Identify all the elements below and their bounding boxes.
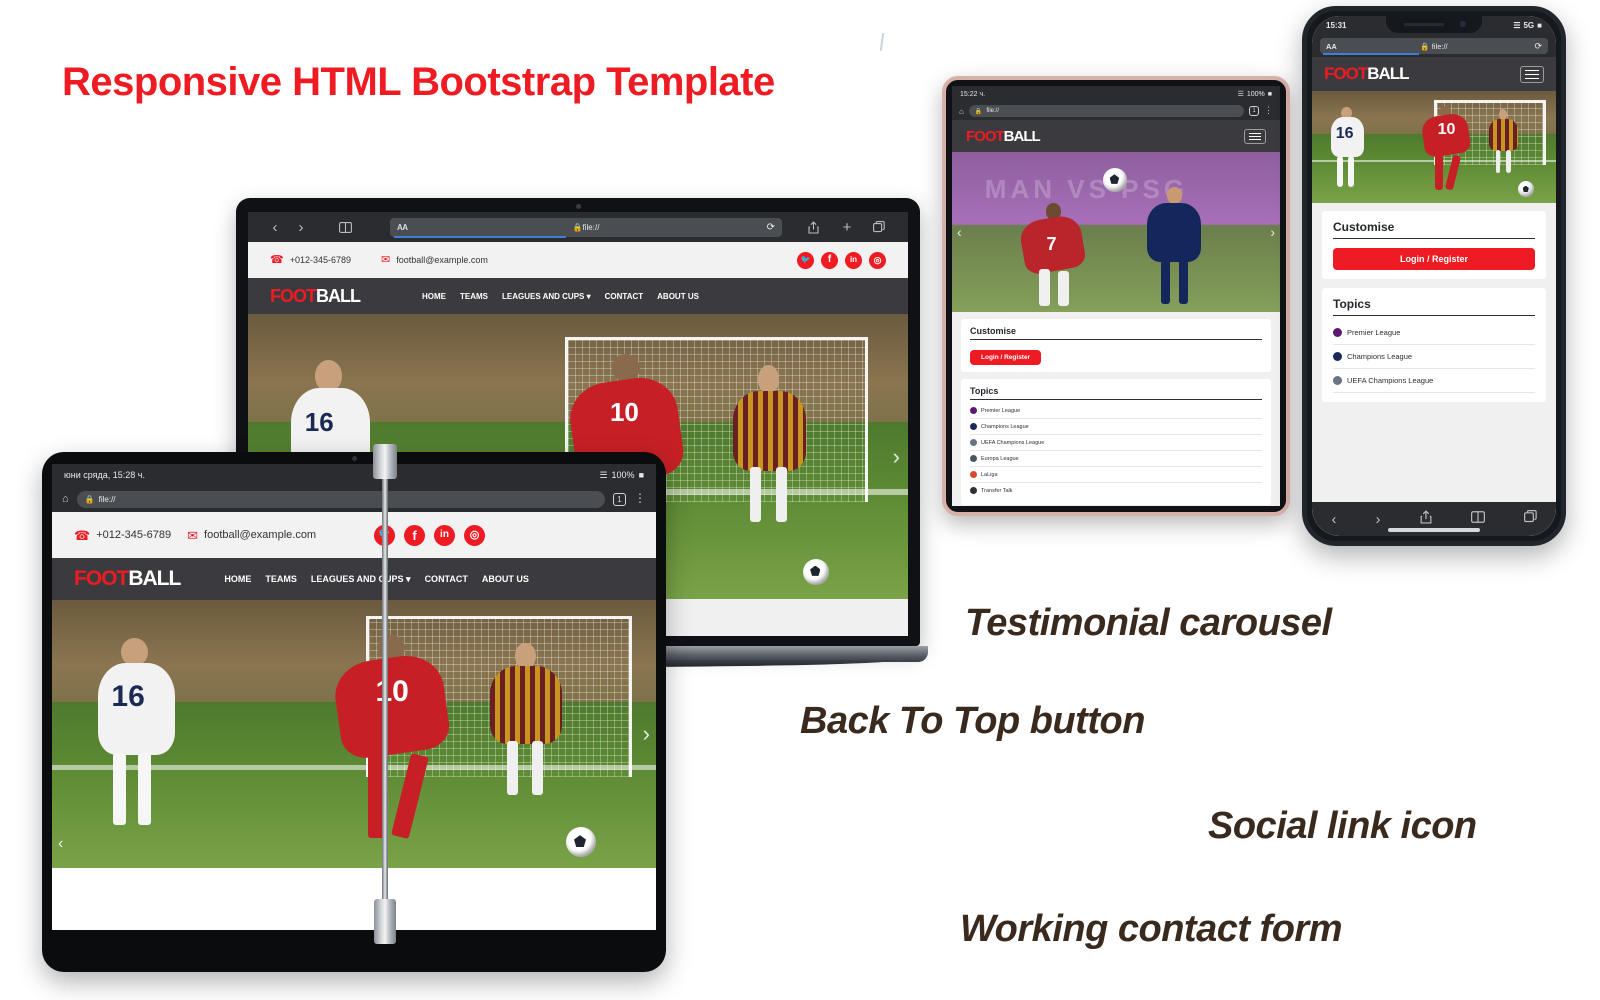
tablet-camera-icon	[352, 456, 357, 461]
hero-carousel[interactable]: 16 10	[1312, 91, 1556, 203]
player-10: 10	[1419, 106, 1473, 193]
chevron-down-icon: ▾	[406, 574, 411, 584]
topic-item-transfer-talk[interactable]: Transfer Talk	[970, 483, 1262, 498]
nav-item-leagues-and-cups[interactable]: LEAGUES AND CUPS ▾	[502, 292, 591, 301]
champions-league-badge-icon	[1333, 352, 1342, 361]
topic-item-champions-league[interactable]: Champions League	[970, 419, 1262, 435]
battery-icon: ■	[1268, 91, 1272, 98]
hero-image: 16 10	[1312, 91, 1556, 203]
hero-image: MAN VS PSG 7	[952, 152, 1280, 312]
carousel-prev-button[interactable]: ‹	[957, 224, 962, 240]
address-bar[interactable]: AA 🔒file:// ⟳	[390, 218, 782, 237]
topic-item-premier-league[interactable]: Premier League	[970, 403, 1262, 419]
tablet-small-screen: 15:22 ч. ☰ 100% ■ ⌂ 🔒 file:// 1 ⋮	[952, 86, 1280, 506]
twitter-icon[interactable]: 🐦	[797, 252, 814, 269]
football-icon	[1103, 168, 1127, 192]
phone-icon: ☎	[74, 529, 90, 542]
phone-screen: 15:31 ☰ 5G ■ AA 🔒 file:// ⟳	[1312, 16, 1556, 536]
lock-icon: 🔒	[1420, 42, 1429, 51]
contact-email[interactable]: ✉ football@example.com	[381, 255, 488, 266]
s-pen-stylus[interactable]	[373, 444, 397, 944]
site-navbar: FOOTBALL HOME TEAMS LEAGUES AND CUPS ▾ C…	[52, 558, 656, 600]
champions-league-badge-icon	[970, 423, 977, 430]
bookmarks-icon[interactable]	[1471, 510, 1485, 528]
site-logo[interactable]: FOOTBALL	[74, 567, 180, 591]
transfer-talk-badge-icon	[970, 487, 977, 494]
player-16: 16	[88, 638, 185, 831]
forward-icon[interactable]: ›	[288, 219, 314, 236]
nav-item-about-us[interactable]: ABOUT US	[482, 574, 529, 584]
annotation-working-contact-form: Working contact form	[960, 908, 1342, 951]
chevron-down-icon: ▾	[587, 292, 591, 301]
overflow-menu-icon[interactable]: ⋮	[1264, 108, 1273, 113]
player-messi	[1142, 187, 1208, 305]
topic-item-laliga[interactable]: LaLiga	[970, 467, 1262, 483]
topics-title: Topics	[970, 386, 1262, 400]
nav-item-about-us[interactable]: ABOUT US	[657, 292, 699, 301]
battery-icon: ■	[639, 470, 644, 480]
speaker-icon	[1404, 23, 1444, 26]
login-register-button[interactable]: Login / Register	[1333, 248, 1535, 270]
url-text: file://	[986, 108, 999, 114]
topics-title: Topics	[1333, 297, 1535, 316]
page-title: Responsive HTML Bootstrap Template	[62, 60, 775, 105]
linkedin-icon[interactable]: in	[845, 252, 862, 269]
nav-item-teams[interactable]: TEAMS	[460, 292, 488, 301]
annotation-testimonial-carousel: Testimonial carousel	[965, 602, 1332, 645]
device-tablet-large: юни сряда, 15:28 ч. ☰ 100% ■ ⌂ 🔒 file://…	[42, 452, 666, 972]
annotation-social-link-icon: Social link icon	[1208, 805, 1477, 848]
hamburger-menu-icon[interactable]	[1520, 66, 1544, 83]
tablet-large-screen: юни сряда, 15:28 ч. ☰ 100% ■ ⌂ 🔒 file://…	[52, 464, 656, 930]
customise-title: Customise	[970, 326, 1262, 340]
carousel-next-button[interactable]: ›	[1270, 224, 1275, 240]
customise-card: Customise Login / Register	[961, 319, 1271, 372]
contact-phone[interactable]: ☎ +012-345-6789	[270, 255, 351, 266]
email-address: football@example.com	[396, 255, 488, 265]
site-navbar: FOOTBALL HOME TEAMS LEAGUES AND CUPS ▾ C…	[248, 278, 908, 314]
back-icon[interactable]: ‹	[1332, 511, 1337, 528]
sidebar-panel: Customise Login / Register Topics Premie…	[1312, 203, 1556, 502]
lock-icon: 🔒	[573, 223, 583, 232]
topic-item-champions-league[interactable]: Champions League	[1333, 345, 1535, 369]
back-icon[interactable]: ‹	[262, 219, 288, 236]
envelope-icon: ✉	[381, 255, 390, 266]
nav-menu: HOME TEAMS LEAGUES AND CUPS ▾ CONTACT AB…	[422, 292, 699, 301]
site-topbar: ☎ +012-345-6789 ✉ football@example.com 🐦…	[52, 512, 656, 558]
overflow-menu-icon[interactable]: ⋮	[634, 495, 646, 502]
website-phone: FOOTBALL 16	[1312, 57, 1556, 536]
hero-carousel[interactable]: 16 10	[52, 600, 656, 868]
stray-mark	[880, 33, 884, 51]
topic-item-premier-league[interactable]: Premier League	[1333, 321, 1535, 345]
screenshot-canvas: Responsive HTML Bootstrap Template Testi…	[0, 0, 1600, 1000]
contact-email[interactable]: ✉ football@example.com	[187, 529, 316, 542]
topic-item-uefa-champions-league[interactable]: UEFA Champions League	[1333, 369, 1535, 393]
url-text: file://	[99, 495, 116, 504]
battery-percent: 100%	[612, 470, 635, 480]
phone-number: +012-345-6789	[290, 255, 351, 265]
url-text: 🔒 file://	[1320, 42, 1548, 51]
uefa-champions-league-badge-icon	[970, 439, 977, 446]
tab-count-button[interactable]: 1	[1249, 106, 1259, 116]
safari-address-bar-row: AA 🔒 file:// ⟳	[1312, 35, 1556, 57]
hero-carousel[interactable]: MAN VS PSG 7	[952, 152, 1280, 312]
phone-body: 15:31 ☰ 5G ■ AA 🔒 file:// ⟳	[1302, 6, 1566, 546]
tablet-small-body: 15:22 ч. ☰ 100% ■ ⌂ 🔒 file:// 1 ⋮	[942, 76, 1290, 516]
carousel-prev-button[interactable]: ‹	[58, 835, 63, 853]
home-indicator	[1388, 528, 1480, 532]
home-icon[interactable]: ⌂	[959, 107, 964, 116]
share-icon[interactable]	[1420, 510, 1432, 529]
front-camera-icon	[1460, 21, 1466, 27]
address-bar[interactable]: 🔒 file://	[969, 105, 1244, 117]
new-tab-icon[interactable]: +	[830, 219, 864, 236]
signal-icon: ☰	[599, 470, 607, 481]
website-tablet-small: FOOTBALL MAN VS PSG	[952, 120, 1280, 506]
android-status-bar: юни сряда, 15:28 ч. ☰ 100% ■	[52, 464, 656, 486]
europa-league-badge-icon	[970, 455, 977, 462]
chrome-omnibox-bar: ⌂ 🔒 file:// 1 ⋮	[952, 102, 1280, 120]
site-logo[interactable]: FOOTBALL	[1324, 64, 1409, 84]
nav-item-contact[interactable]: CONTACT	[425, 574, 468, 584]
player-16: 16	[1327, 107, 1368, 190]
status-time: 15:31	[1326, 21, 1346, 30]
premier-league-badge-icon	[1333, 328, 1342, 337]
customise-card: Customise Login / Register	[1322, 211, 1546, 279]
facebook-icon[interactable]: f	[404, 525, 425, 546]
network-label: 5G	[1523, 21, 1534, 30]
site-navbar: FOOTBALL	[952, 120, 1280, 152]
hero-image: 16 10	[52, 600, 656, 868]
hamburger-menu-icon[interactable]	[1244, 129, 1266, 144]
address-bar[interactable]: AA 🔒 file:// ⟳	[1320, 38, 1548, 54]
instagram-icon[interactable]: ◎	[869, 252, 886, 269]
carousel-next-button[interactable]: ›	[893, 444, 900, 470]
football-icon	[803, 559, 829, 585]
device-tablet-small: 15:22 ч. ☰ 100% ■ ⌂ 🔒 file:// 1 ⋮	[942, 76, 1290, 516]
lock-icon: 🔒	[85, 495, 95, 504]
topics-card: Topics Premier League Champions League	[1322, 288, 1546, 402]
site-logo[interactable]: FOOTBALL	[270, 286, 360, 307]
instagram-icon[interactable]: ◎	[464, 525, 485, 546]
nav-item-teams[interactable]: TEAMS	[265, 574, 297, 584]
lock-icon: 🔒	[975, 108, 982, 115]
chrome-omnibox-bar: ⌂ 🔒 file:// 1 ⋮	[52, 486, 656, 512]
tabs-icon[interactable]	[864, 221, 894, 233]
tabs-icon[interactable]	[1524, 510, 1537, 528]
phone-icon: ☎	[270, 255, 284, 266]
site-topbar: ☎ +012-345-6789 ✉ football@example.com 🐦…	[248, 242, 908, 278]
forward-icon[interactable]: ›	[1376, 511, 1381, 528]
carousel-next-button[interactable]: ›	[643, 721, 650, 747]
annotation-back-to-top-button: Back To Top button	[800, 700, 1145, 743]
safari-toolbar: ‹ › AA 🔒file:// ⟳ +	[248, 212, 908, 242]
goalkeeper	[730, 365, 809, 525]
social-links: 🐦 f in ◎	[797, 252, 886, 269]
status-time: 15:22 ч.	[960, 91, 985, 98]
linkedin-icon[interactable]: in	[434, 525, 455, 546]
email-address: football@example.com	[204, 529, 316, 541]
premier-league-badge-icon	[970, 407, 977, 414]
nav-item-home[interactable]: HOME	[224, 574, 251, 584]
envelope-icon: ✉	[187, 529, 198, 542]
url-text: 🔒file://	[390, 223, 782, 232]
battery-percent: 100%	[1247, 91, 1265, 98]
uefa-champions-league-badge-icon	[1333, 376, 1342, 385]
signal-icon: ☰	[1513, 21, 1520, 30]
topics-card: Topics Premier League Champions League	[961, 379, 1271, 505]
phone-notch	[1386, 16, 1482, 33]
facebook-icon[interactable]: f	[821, 252, 838, 269]
device-phone: 15:31 ☰ 5G ■ AA 🔒 file:// ⟳	[1302, 6, 1566, 546]
site-logo[interactable]: FOOTBALL	[966, 128, 1040, 145]
share-icon[interactable]	[796, 221, 830, 234]
sidebar-panel: Customise Login / Register Topics Premie…	[952, 312, 1280, 506]
goalkeeper	[487, 643, 566, 798]
battery-icon: ■	[1537, 21, 1542, 30]
status-datetime: юни сряда, 15:28 ч.	[64, 470, 145, 480]
football-icon	[566, 827, 596, 857]
website-tablet-large: ☎ +012-345-6789 ✉ football@example.com 🐦…	[52, 512, 656, 930]
home-icon[interactable]: ⌂	[62, 493, 69, 505]
nav-item-home[interactable]: HOME	[422, 292, 446, 301]
tab-count-button[interactable]: 1	[613, 493, 626, 506]
site-navbar: FOOTBALL	[1312, 57, 1556, 91]
address-bar[interactable]: 🔒 file://	[77, 491, 605, 508]
sidebar-icon[interactable]	[314, 222, 376, 233]
topic-item-uefa-champions-league[interactable]: UEFA Champions League	[970, 435, 1262, 451]
player-ronaldo: 7	[1018, 203, 1090, 305]
goalkeeper	[1488, 109, 1520, 174]
laliga-badge-icon	[970, 471, 977, 478]
signal-icon: ☰	[1238, 90, 1244, 98]
phone-number: +012-345-6789	[96, 529, 171, 541]
nav-item-contact[interactable]: CONTACT	[605, 292, 644, 301]
android-status-bar: 15:22 ч. ☰ 100% ■	[952, 86, 1280, 102]
customise-title: Customise	[1333, 220, 1535, 239]
contact-phone[interactable]: ☎ +012-345-6789	[74, 529, 171, 542]
laptop-camera-icon	[576, 204, 581, 209]
tablet-large-body: юни сряда, 15:28 ч. ☰ 100% ■ ⌂ 🔒 file://…	[42, 452, 666, 972]
topic-item-europa-league[interactable]: Europa League	[970, 451, 1262, 467]
login-register-button[interactable]: Login / Register	[970, 350, 1041, 365]
